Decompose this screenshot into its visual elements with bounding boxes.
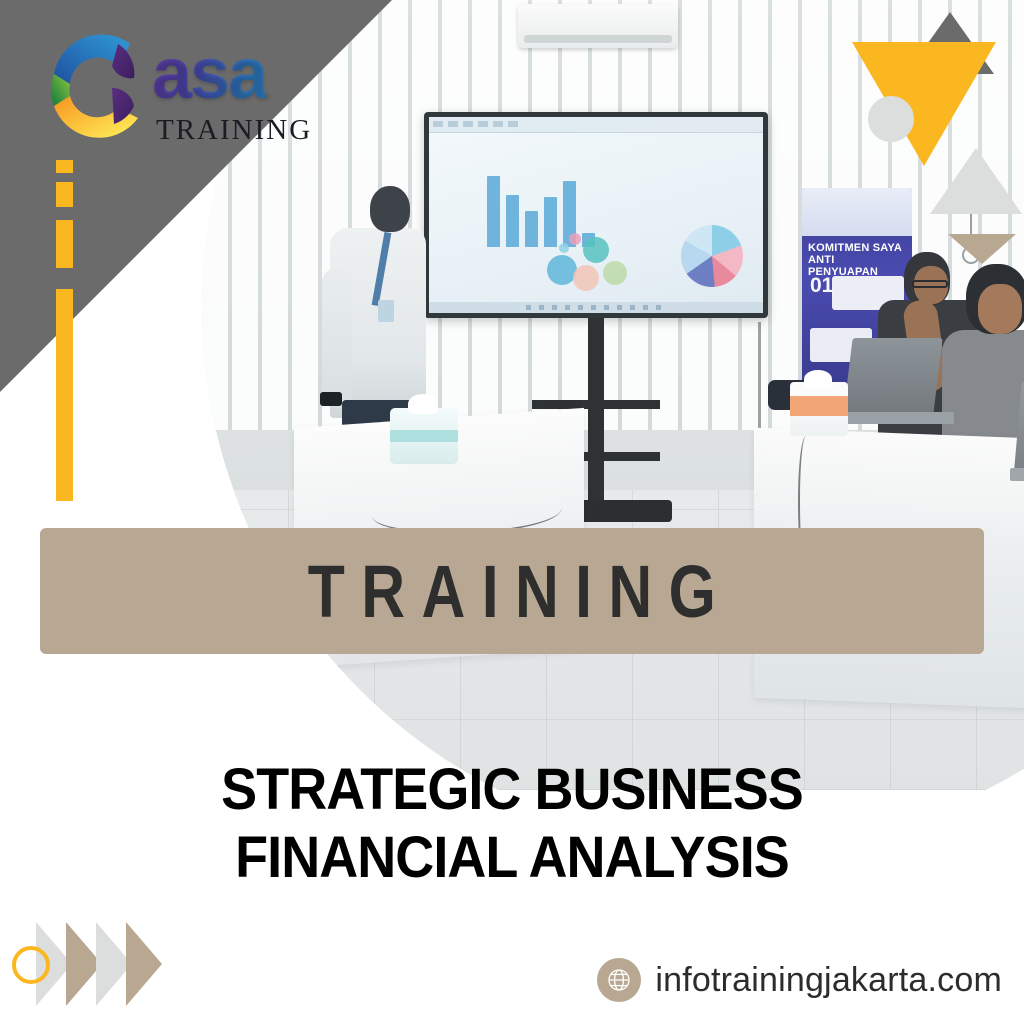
bubble xyxy=(569,233,581,245)
bubble xyxy=(583,237,609,263)
logo-wordmark: asa xyxy=(152,38,266,110)
chevron-4-icon xyxy=(126,922,162,1006)
training-banner: TRAINING xyxy=(40,528,984,654)
website-url[interactable]: infotrainingjakarta.com xyxy=(655,961,1002,1000)
rollup-banner-header xyxy=(802,188,912,236)
brand-logo: asa TRAINING xyxy=(34,18,344,158)
logo-subtitle: TRAINING xyxy=(156,114,312,147)
bubble xyxy=(573,265,599,291)
bar xyxy=(487,176,500,247)
air-conditioner xyxy=(518,4,678,48)
presenter-badge xyxy=(378,300,394,322)
yellow-dash-2 xyxy=(56,182,73,207)
dashboard-pie-chart xyxy=(681,225,743,287)
tan-triangle-icon xyxy=(948,234,1016,264)
page-title: STRATEGIC BUSINESS FINANCIAL ANALYSIS xyxy=(84,756,940,892)
tissue-box-right xyxy=(790,382,848,436)
participant-1-glasses xyxy=(912,280,948,288)
participant-2-face xyxy=(978,284,1022,334)
bubble xyxy=(559,243,569,253)
screen-taskbar xyxy=(429,302,763,313)
dashboard-bubble-chart xyxy=(537,221,667,291)
rollup-line-1: KOMITMEN SAYA xyxy=(808,242,902,254)
swoosh-logo-icon xyxy=(34,22,166,154)
footer-website[interactable]: infotrainingjakarta.com xyxy=(597,958,1002,1002)
yellow-dash-1 xyxy=(56,160,73,173)
yellow-ring-icon xyxy=(12,946,50,984)
yellow-dash-4 xyxy=(56,289,73,501)
light-grey-triangle-icon xyxy=(930,148,1022,214)
tissue-box-left xyxy=(390,408,458,464)
laptop-left xyxy=(843,338,942,414)
presenter-head xyxy=(370,186,410,232)
laptop-right-base xyxy=(1010,468,1024,481)
grey-circle-icon xyxy=(868,96,914,142)
screen-stand-pole xyxy=(588,318,604,516)
bubble xyxy=(603,261,627,285)
app-ribbon xyxy=(429,117,763,133)
yellow-dash-3 xyxy=(56,220,73,268)
bar xyxy=(506,195,519,247)
training-banner-label: TRAINING xyxy=(292,549,733,634)
presentation-screen xyxy=(424,112,768,318)
globe-icon xyxy=(597,958,641,1002)
presenter-arm xyxy=(322,268,352,408)
laptop-left-base xyxy=(842,412,954,424)
poster-canvas: KOMITMEN SAYA ANTI PENYUAPAN 01 02 xyxy=(0,0,1024,1024)
screen-display xyxy=(429,117,763,313)
rollup-number-01: 01 xyxy=(810,274,833,298)
rollup-banner-headline: KOMITMEN SAYA ANTI PENYUAPAN xyxy=(808,242,906,278)
presenter-watch xyxy=(320,392,342,406)
